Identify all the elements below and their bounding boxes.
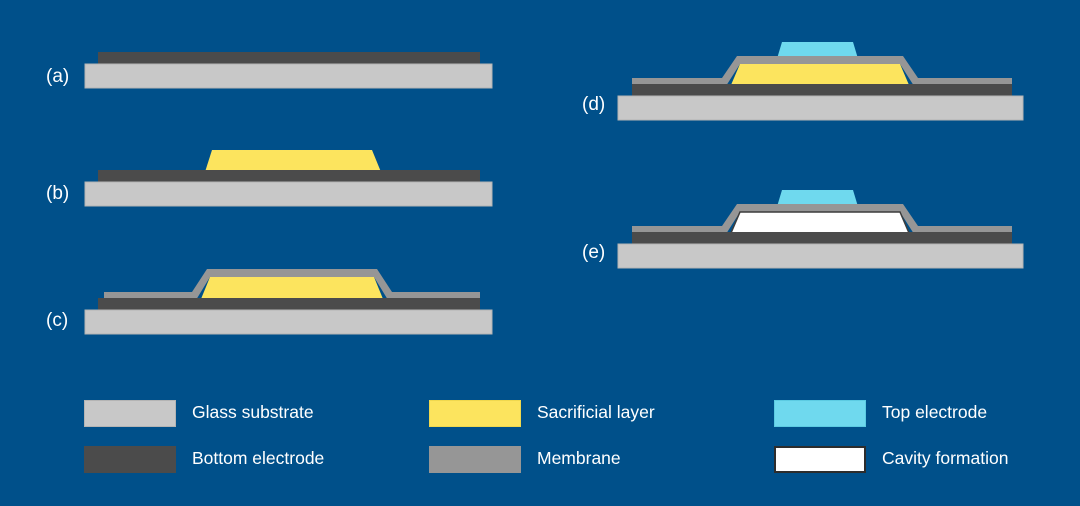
legend-label-glass-substrate: Glass substrate	[192, 404, 314, 422]
panel-e-label: (e)	[582, 242, 605, 263]
panel-b-sacrificial-layer	[205, 150, 381, 172]
panel-a-glass-substrate	[85, 64, 492, 88]
legend-swatch-bottom-electrode	[84, 446, 176, 473]
legend-swatch-membrane	[429, 446, 521, 473]
panel-c-glass-substrate	[85, 310, 492, 334]
panel-e-cavity	[731, 212, 909, 233]
panel-a: (a)	[46, 52, 492, 88]
panel-e-bottom-electrode	[632, 232, 1012, 244]
legend-item-bottom-electrode: Bottom electrode	[84, 446, 429, 473]
legend-item-top-electrode: Top electrode	[774, 400, 1044, 427]
legend-swatch-cavity-formation	[774, 446, 866, 473]
legend-label-bottom-electrode: Bottom electrode	[192, 450, 324, 468]
legend-swatch-sacrificial-layer	[429, 400, 521, 427]
panel-d-bottom-electrode	[632, 84, 1012, 96]
legend-swatch-glass-substrate	[84, 400, 176, 427]
panel-a-label: (a)	[46, 66, 69, 87]
legend-label-membrane: Membrane	[537, 450, 621, 468]
panel-b-label: (b)	[46, 183, 69, 204]
panel-c-sacrificial-layer	[201, 277, 383, 299]
panel-b-glass-substrate	[85, 182, 492, 206]
legend-item-glass-substrate: Glass substrate	[84, 400, 429, 427]
panel-e: (e)	[582, 190, 1023, 268]
panel-b: (b)	[46, 150, 492, 206]
panel-c-label: (c)	[46, 310, 68, 331]
panel-a-bottom-electrode	[98, 52, 480, 64]
panel-c: (c)	[46, 269, 492, 334]
panel-e-glass-substrate	[618, 244, 1023, 268]
panel-d-sacrificial-layer	[731, 64, 909, 85]
legend-label-sacrificial-layer: Sacrificial layer	[537, 404, 655, 422]
legend: Glass substrate Sacrificial layer Top el…	[84, 390, 1044, 482]
panel-d-label: (d)	[582, 94, 605, 115]
legend-label-top-electrode: Top electrode	[882, 404, 987, 422]
legend-item-sacrificial-layer: Sacrificial layer	[429, 400, 774, 427]
legend-label-cavity-formation: Cavity formation	[882, 450, 1008, 468]
legend-swatch-top-electrode	[774, 400, 866, 427]
panel-b-bottom-electrode	[98, 170, 480, 182]
legend-item-cavity-formation: Cavity formation	[774, 446, 1044, 473]
panel-d-glass-substrate	[618, 96, 1023, 120]
panel-c-bottom-electrode	[98, 298, 480, 310]
panel-d: (d)	[582, 42, 1023, 120]
legend-item-membrane: Membrane	[429, 446, 774, 473]
